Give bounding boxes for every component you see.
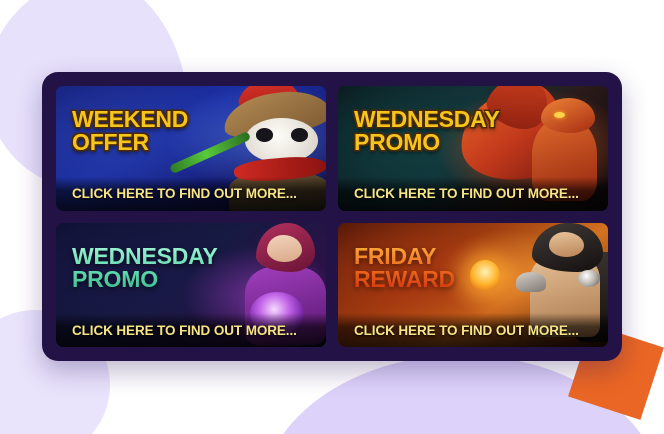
dragon-head-icon xyxy=(541,98,595,133)
promo-card-container: WEEKEND OFFER CLICK HERE TO FIND OUT MOR… xyxy=(42,72,622,361)
promo-cta-label[interactable]: CLICK HERE TO FIND OUT MORE... xyxy=(56,177,326,211)
shoulder-pauldron-icon xyxy=(516,272,546,292)
necromancer-face-icon xyxy=(549,232,584,257)
promo-cta-label[interactable]: CLICK HERE TO FIND OUT MORE... xyxy=(338,177,608,211)
promo-headline: FRIDAY REWARD xyxy=(354,245,455,292)
silver-orb-icon xyxy=(578,270,600,287)
promo-cta-label[interactable]: CLICK HERE TO FIND OUT MORE... xyxy=(338,313,608,347)
promo-panel-wednesday-dragon[interactable]: WEDNESDAY PROMO CLICK HERE TO FIND OUT M… xyxy=(338,86,608,211)
promo-headline: WEEKEND OFFER xyxy=(72,108,188,155)
flaming-skull-icon xyxy=(470,260,500,290)
sorceress-face-icon xyxy=(267,235,302,262)
promo-headline: WEDNESDAY PROMO xyxy=(72,245,218,292)
promo-cta-label[interactable]: CLICK HERE TO FIND OUT MORE... xyxy=(56,313,326,347)
promo-grid-screen: WEEKEND OFFER CLICK HERE TO FIND OUT MOR… xyxy=(0,0,664,434)
promo-panel-weekend-offer[interactable]: WEEKEND OFFER CLICK HERE TO FIND OUT MOR… xyxy=(56,86,326,211)
promo-panel-wednesday-sorceress[interactable]: WEDNESDAY PROMO CLICK HERE TO FIND OUT M… xyxy=(56,223,326,348)
promo-panel-friday-reward[interactable]: FRIDAY REWARD CLICK HERE TO FIND OUT MOR… xyxy=(338,223,608,348)
promo-headline: WEDNESDAY PROMO xyxy=(354,108,500,155)
